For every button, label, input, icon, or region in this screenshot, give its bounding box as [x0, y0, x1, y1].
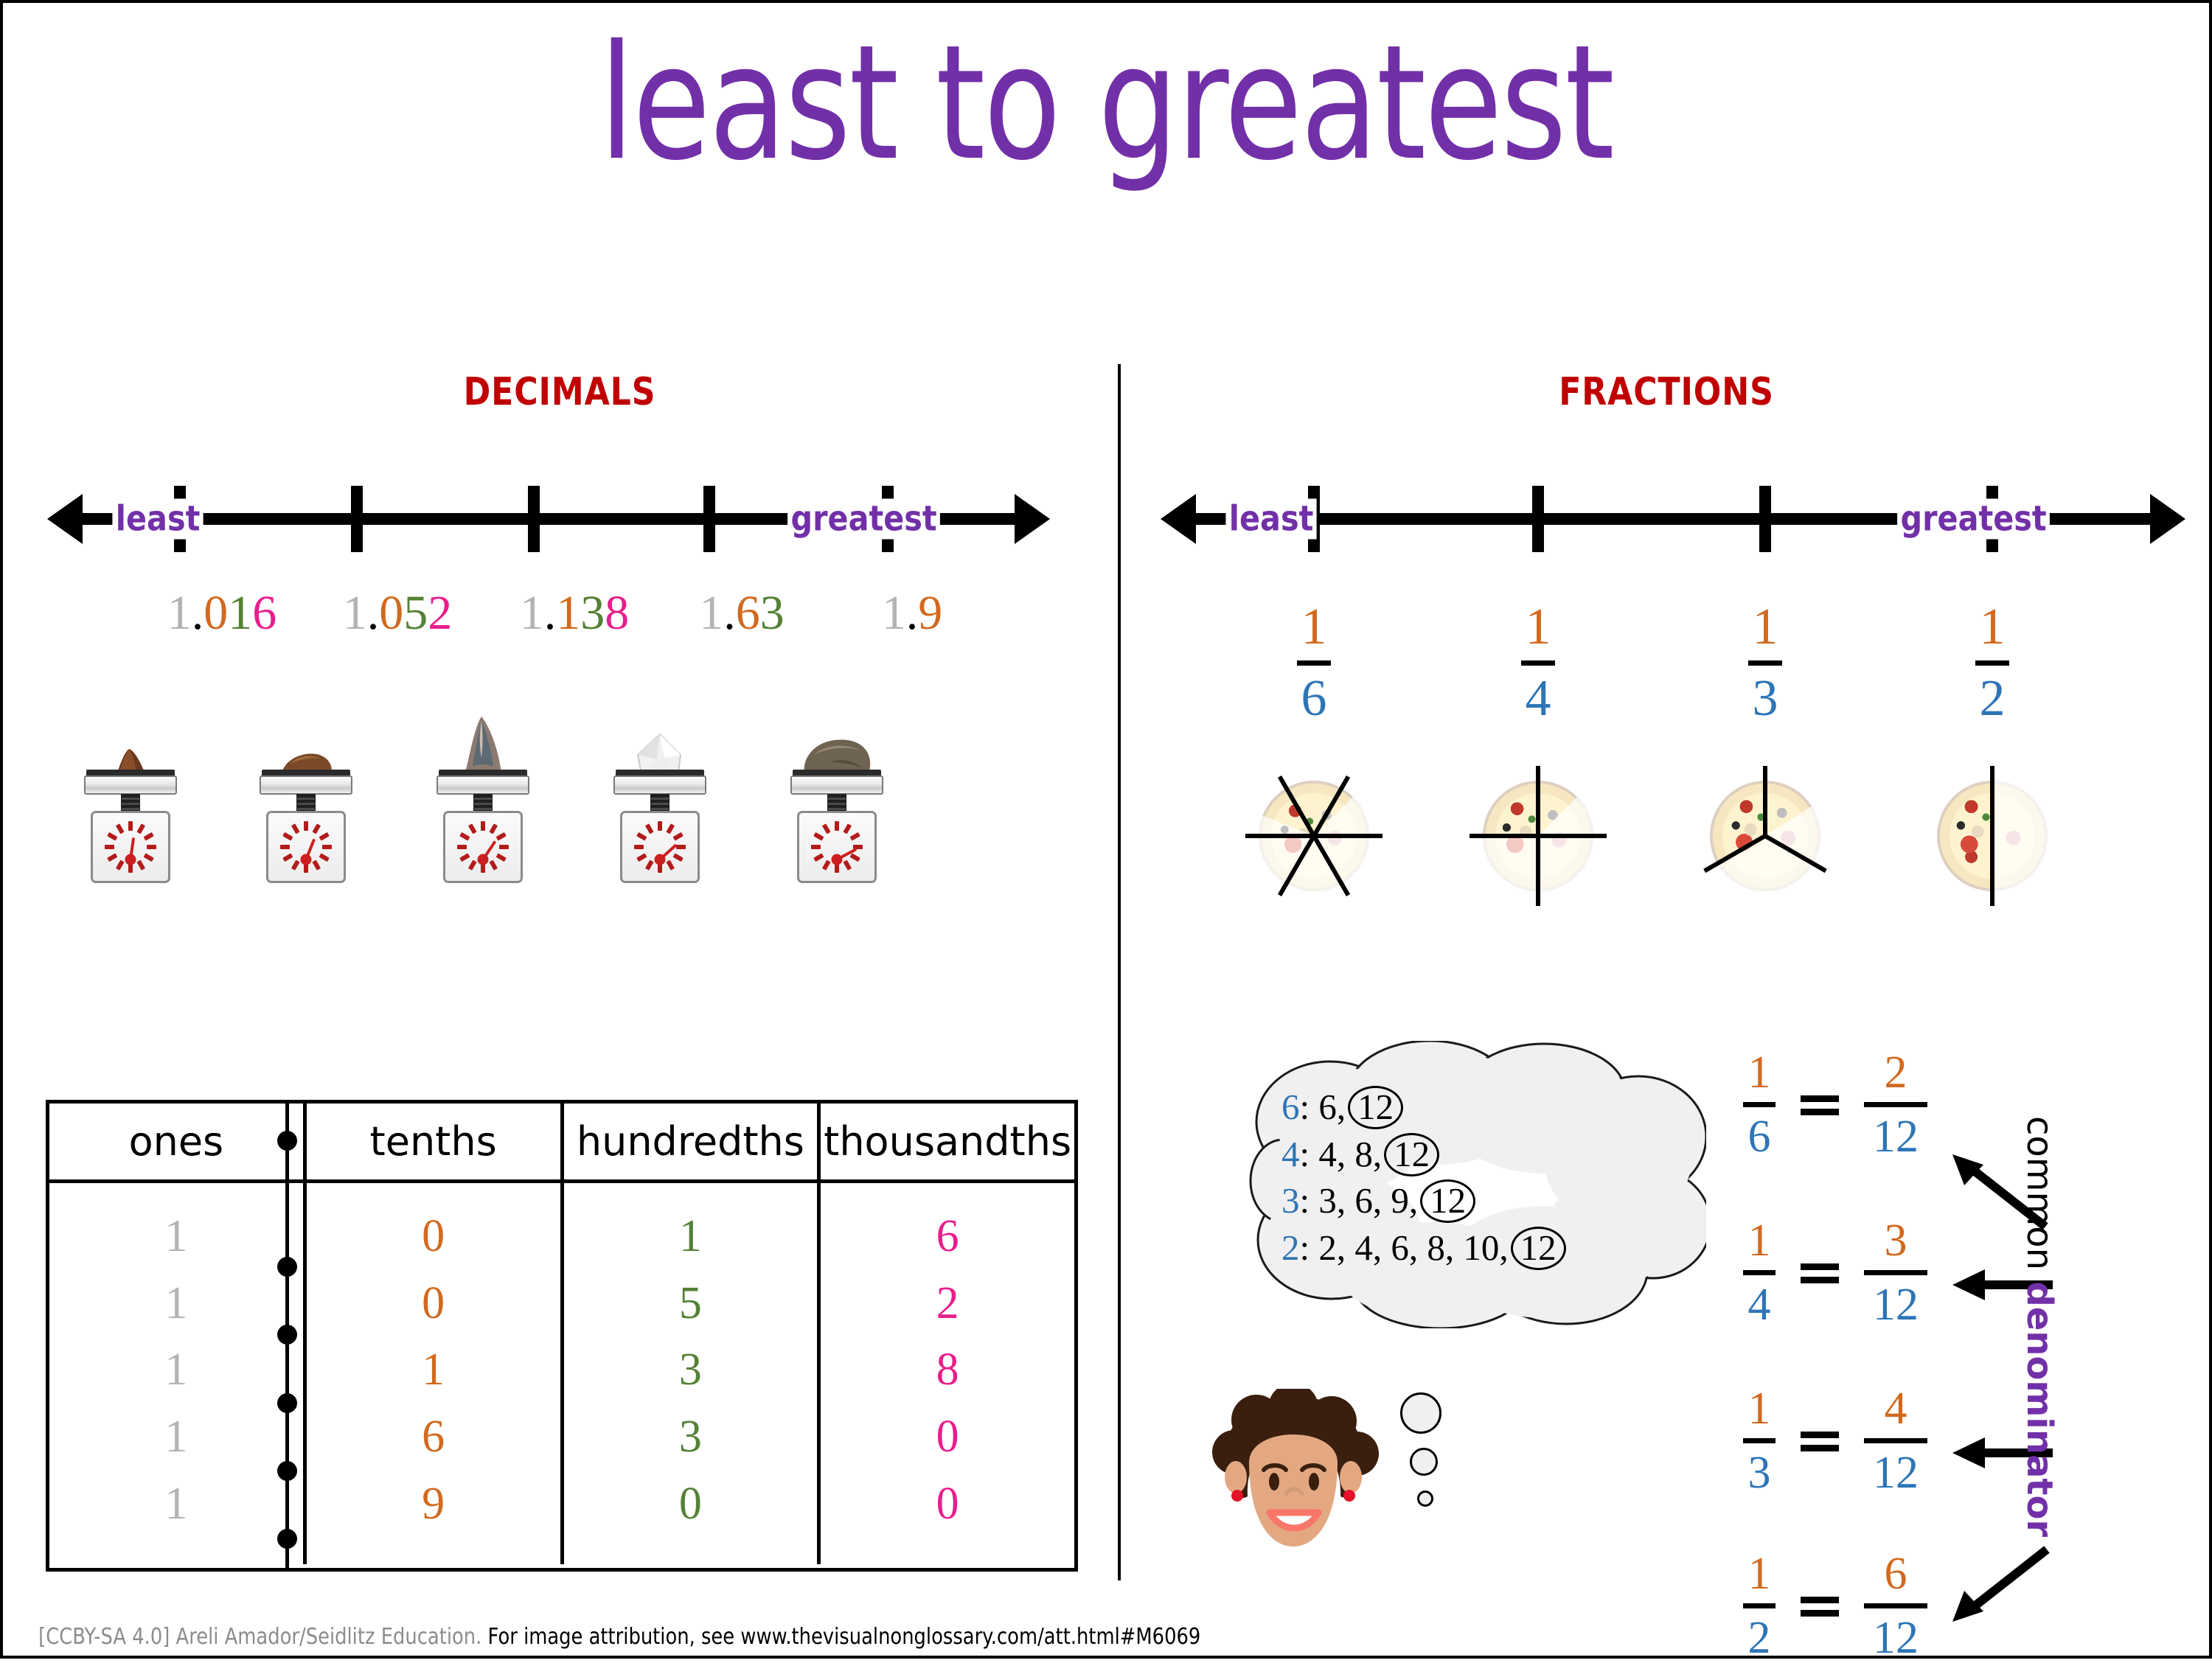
common-word: common [2019, 1116, 2060, 1281]
thought-bubble-dot [1410, 1448, 1438, 1476]
footer-attribution: [CCBY-SA 4.0] Areli Amador/Seidlitz Educ… [3, 1624, 1900, 1650]
least-label: least [1225, 499, 1316, 540]
fraction-value: 1 4 [1521, 600, 1555, 725]
table-cell: 3 [679, 1347, 702, 1392]
attribution-text: For image attribution, see www.thevisual… [488, 1624, 1201, 1650]
equivalent-fraction-row: 1 3 4 12 [1743, 1386, 1927, 1496]
table-cell: 1 [164, 1481, 187, 1527]
decimals-heading: DECIMALS [86, 370, 1033, 414]
decimal-value: 1.138 [520, 585, 630, 641]
numerator: 1 [1297, 600, 1331, 655]
decimals-number-line: least greatest [47, 475, 1050, 563]
denominator: 4 [1521, 672, 1555, 726]
table-cell: 1 [679, 1213, 702, 1259]
pizza-halves [1937, 781, 2048, 891]
fraction-bar [1864, 1270, 1927, 1275]
number-line-tick [351, 486, 363, 552]
numerator: 6 [1864, 1551, 1927, 1597]
fraction-bar [1864, 1603, 1927, 1608]
scale-needle-hub [478, 854, 489, 865]
numerator: 1 [1975, 600, 2009, 655]
denominator: 12 [1864, 1450, 1927, 1496]
column-ones: 1 1 1 1 1 [49, 1183, 307, 1564]
table-cell: 2 [936, 1280, 959, 1326]
scale-pan [84, 775, 177, 795]
original-fraction: 1 3 [1743, 1386, 1775, 1496]
scale-needle-hub [832, 854, 843, 865]
equivalent-fraction: 2 12 [1864, 1050, 1927, 1160]
pizza-sixths [1259, 781, 1369, 891]
numerator: 1 [1743, 1551, 1775, 1597]
thought-bubble-dot [1417, 1491, 1433, 1507]
table-cell: 8 [936, 1347, 959, 1392]
denominator: 6 [1743, 1114, 1775, 1160]
multiples-line: 6: 6,12 [1281, 1084, 1694, 1131]
decimal-point-dot [277, 1461, 297, 1481]
multiples-line: 4: 4, 8,12 [1281, 1131, 1694, 1178]
fraction-value: 1 3 [1748, 600, 1782, 725]
scale-pan [437, 775, 529, 795]
number-line-tick [1532, 486, 1544, 552]
numerator: 1 [1743, 1050, 1775, 1095]
arrow-right-icon [1015, 494, 1050, 544]
student-avatar [1211, 1389, 1380, 1573]
denominator: 12 [1864, 1282, 1927, 1328]
table-cell: 0 [679, 1481, 702, 1527]
scale-neck [827, 794, 846, 812]
table-cell: 1 [422, 1347, 445, 1392]
numerator: 4 [1864, 1386, 1927, 1432]
table-cell: 0 [422, 1280, 445, 1326]
equivalent-fraction: 4 12 [1864, 1386, 1927, 1496]
table-cell: 6 [422, 1414, 445, 1460]
fraction-bar [1743, 1270, 1775, 1275]
pizza-fourths [1483, 781, 1593, 891]
table-cell: 1 [164, 1414, 187, 1460]
pizza-cut-line [1763, 766, 1767, 836]
denominator: 4 [1743, 1282, 1775, 1328]
circled-common-multiple: 12 [1511, 1227, 1566, 1270]
arrow-left-icon [1161, 494, 1196, 544]
multiples-list: 6: 6,12 4: 4, 8,12 3: 3, 6, 9,12 2: 2, 4… [1281, 1084, 1694, 1272]
column-tenths: 0 0 1 6 9 [307, 1183, 564, 1564]
equals-sign [1801, 1594, 1839, 1619]
numerator: 1 [1743, 1386, 1775, 1432]
equals-sign [1801, 1092, 1839, 1118]
multiples-line: 3: 3, 6, 9,12 [1281, 1177, 1694, 1224]
numerator: 1 [1743, 1218, 1775, 1263]
scale-body [91, 811, 170, 883]
fraction-bar [1521, 660, 1555, 666]
original-fraction: 1 6 [1743, 1050, 1775, 1160]
least-label: least [112, 499, 203, 540]
decimal-point-dot [277, 1393, 297, 1413]
denominator: 3 [1748, 672, 1782, 726]
circled-common-multiple: 12 [1348, 1086, 1403, 1129]
pizza-cut-line [1990, 766, 1994, 906]
column-header-hundredths: hundredths [564, 1104, 821, 1179]
denominator: 2 [1975, 672, 2009, 726]
scale-neck [650, 794, 669, 812]
scale-dial [277, 818, 335, 876]
table-cell: 3 [679, 1414, 702, 1460]
arrow-left-icon [47, 494, 83, 544]
column-header-thousandths: thousandths [821, 1104, 1074, 1179]
fraction-bar [1748, 660, 1782, 666]
page-title: least to greatest [223, 24, 1989, 182]
table-cell: 9 [422, 1481, 445, 1527]
equivalent-fraction-row: 1 6 2 12 [1743, 1050, 1927, 1160]
numerator: 2 [1864, 1050, 1927, 1095]
equals-sign [1801, 1261, 1839, 1286]
table-cell: 1 [164, 1347, 187, 1392]
scale-needle-hub [301, 854, 312, 865]
equals-sign [1801, 1429, 1839, 1454]
table-cell: 1 [164, 1280, 187, 1326]
fraction-bar [1743, 1438, 1775, 1443]
fraction-bar [1743, 1603, 1775, 1608]
number-line-tick [703, 486, 715, 552]
decimal-point-dot [277, 1529, 297, 1549]
common-denominator-label: common denominator [2019, 1116, 2060, 1573]
denominator: 3 [1743, 1450, 1775, 1496]
scale-neck [473, 794, 493, 812]
column-hundredths: 1 5 3 3 0 [564, 1183, 821, 1564]
scale-pan [260, 775, 352, 795]
column-thousandths: 6 2 8 0 0 [821, 1183, 1074, 1564]
column-header-tenths: tenths [307, 1104, 564, 1179]
numerator: 3 [1864, 1218, 1927, 1263]
numerator: 1 [1748, 600, 1782, 655]
thought-bubble: 6: 6,12 4: 4, 8,12 3: 3, 6, 9,12 2: 2, 4… [1249, 1041, 1706, 1328]
thought-bubble-dot [1400, 1392, 1441, 1434]
scale-neck [121, 794, 140, 812]
denominator: 6 [1297, 672, 1331, 726]
circled-common-multiple: 12 [1384, 1133, 1439, 1176]
scale-pan [790, 775, 883, 795]
multiples-line: 2: 2, 4, 6, 8, 10,12 [1281, 1224, 1694, 1272]
decimal-point-spine [285, 1100, 289, 1572]
fraction-bar [1864, 1102, 1927, 1107]
scale-body [266, 811, 346, 883]
license-text: [CCBY-SA 4.0] Areli Amador/Seidlitz Educ… [38, 1624, 487, 1650]
table-cell: 6 [936, 1213, 959, 1259]
fraction-bar [1297, 660, 1331, 666]
pizza-cut-line [1536, 766, 1540, 906]
fractions-heading: FRACTIONS [1200, 370, 2133, 414]
table-body: 1 1 1 1 1 0 0 1 6 9 1 5 3 3 0 6 [49, 1183, 1074, 1564]
greatest-label: greatest [1897, 499, 2050, 540]
circled-common-multiple: 12 [1420, 1179, 1475, 1223]
scale-neck [296, 794, 316, 812]
decimal-point-dot [277, 1325, 297, 1345]
decimal-value: 1.052 [343, 585, 453, 641]
decimal-value: 1.016 [167, 585, 277, 641]
table-cell: 0 [936, 1414, 959, 1460]
decimal-point-dot [277, 1131, 297, 1151]
scale-dial [808, 818, 866, 876]
fractions-number-line: least greatest [1161, 475, 2185, 563]
fraction-bar [1743, 1102, 1775, 1107]
section-divider [1118, 364, 1121, 1580]
table-cell: 5 [679, 1280, 702, 1326]
greatest-label: greatest [787, 499, 940, 540]
scale-dial [454, 818, 512, 876]
arrow-right-icon [2150, 494, 2185, 544]
equivalent-fraction: 3 12 [1864, 1218, 1927, 1328]
fraction-bar [1864, 1438, 1927, 1443]
numerator: 1 [1521, 600, 1555, 655]
denominator-word: denominator [2019, 1281, 2060, 1537]
poster-canvas: least to greatest DECIMALS least greates… [3, 3, 2209, 1656]
scale-needle-hub [125, 854, 136, 865]
fraction-value: 1 6 [1297, 600, 1331, 725]
column-header-ones: ones [49, 1104, 307, 1179]
original-fraction: 1 4 [1743, 1218, 1775, 1328]
scale-dial [102, 818, 159, 876]
number-line-tick [1759, 486, 1771, 552]
decimal-value: 1.63 [699, 585, 785, 641]
place-value-table: ones tenths hundredths thousandths 1 1 1… [46, 1100, 1078, 1572]
scale-needle-hub [655, 854, 666, 865]
scale-dial [631, 818, 689, 876]
scale-pan [613, 775, 706, 795]
table-cell: 0 [422, 1213, 445, 1259]
decimal-value: 1.9 [882, 585, 943, 641]
scale-body [797, 811, 877, 883]
fraction-value: 1 2 [1975, 600, 2009, 725]
fraction-bar [1975, 660, 2009, 666]
decimal-point-dot [277, 1257, 297, 1277]
denominator: 12 [1864, 1114, 1927, 1160]
table-cell: 1 [164, 1213, 187, 1259]
pizza-thirds [1710, 781, 1820, 891]
table-header-row: ones tenths hundredths thousandths [49, 1104, 1074, 1183]
number-line-tick [528, 486, 540, 552]
scale-body [620, 811, 700, 883]
scale-body [443, 811, 523, 883]
table-cell: 0 [936, 1481, 959, 1527]
equivalent-fraction-row: 1 4 3 12 [1743, 1218, 1927, 1328]
